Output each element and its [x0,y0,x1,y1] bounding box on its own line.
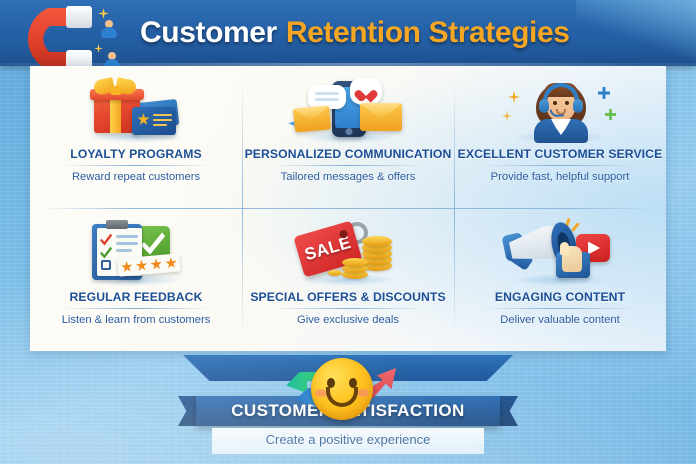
footer-subtitle: Create a positive experience [0,432,696,447]
card-title: REGULAR FEEDBACK [70,291,203,303]
coin-icon [328,270,342,276]
grid-divider-horizontal [40,208,656,209]
card-title: ENGAGING CONTENT [495,291,625,303]
magnet-icon [8,2,118,74]
title-underline [61,165,211,166]
title-underline [273,308,423,309]
checkbox-icon [101,260,111,270]
customer-avatar-icon [101,20,117,38]
card-title: PERSONALIZED COMMUNICATION [245,148,452,160]
star-icon [135,259,148,272]
page-title-part-2: Retention Strategies [286,16,570,50]
title-underline [273,165,423,166]
smiley-face-icon [311,358,373,420]
card-title: LOYALTY PROGRAMS [70,148,201,160]
strategy-card-loyalty-programs[interactable]: LOYALTY PROGRAMS Reward repeat customers [30,66,242,209]
smartphone-chat-envelope-icon [242,72,454,148]
sparkle-icon [508,91,520,103]
infographic-background: Customer Retention Strategies [0,0,696,464]
page-title: Customer Retention Strategies [140,11,560,55]
thumbs-up-icon [556,252,590,278]
strategy-card-regular-feedback[interactable]: REGULAR FEEDBACK Listen & learn from cus… [30,209,242,352]
support-agent-avatar [532,79,590,141]
gift-and-loyalty-cards-icon [30,72,242,148]
clipboard-checklist-stars-icon [30,215,242,291]
star-icon [165,256,178,269]
card-subtitle: Listen & learn from customers [62,314,211,326]
card-subtitle: Reward repeat customers [72,171,200,183]
star-icon [120,260,133,273]
sale-tag-coins-icon: SALE [242,215,454,291]
star-icon [150,257,163,270]
card-subtitle: Provide fast, helpful support [491,171,630,183]
title-underline [485,165,635,166]
card-title: SPECIAL OFFERS & DISCOUNTS [250,291,445,303]
heart-bubble-icon [350,78,382,104]
plus-icon [605,109,616,120]
card-subtitle: Give exclusive deals [297,314,399,326]
heart-icon [359,85,373,98]
headset-support-agent-icon [454,72,666,148]
plus-icon [598,87,610,99]
card-title: EXCELLENT CUSTOMER SERVICE [458,148,663,160]
card-subtitle: Tailored messages & offers [281,171,416,183]
title-underline [485,308,635,309]
card-subtitle: Deliver valuable content [500,314,619,326]
page-title-part-1: Customer [140,16,277,50]
strategy-card-excellent-customer-service[interactable]: EXCELLENT CUSTOMER SERVICE Provide fast,… [454,66,666,209]
check-mark-green-icon [100,246,112,259]
title-underline [61,308,211,309]
envelope-icon [360,103,402,131]
strategy-card-engaging-content[interactable]: ENGAGING CONTENT Deliver valuable conten… [454,209,666,352]
check-mark-red-icon [100,233,112,246]
megaphone-play-thumbsup-icon [454,215,666,291]
strategy-card-personalized-communication[interactable]: PERSONALIZED COMMUNICATION Tailored mess… [242,66,454,209]
envelope-icon [293,105,331,132]
loyalty-card-front-icon [132,107,176,135]
strategies-panel: LOYALTY PROGRAMS Reward repeat customers [30,66,666,351]
header-band-fade [576,0,696,66]
sparkle-icon [502,111,512,121]
strategy-card-special-offers[interactable]: SALE [242,209,454,352]
sound-ray-icon [571,222,580,232]
